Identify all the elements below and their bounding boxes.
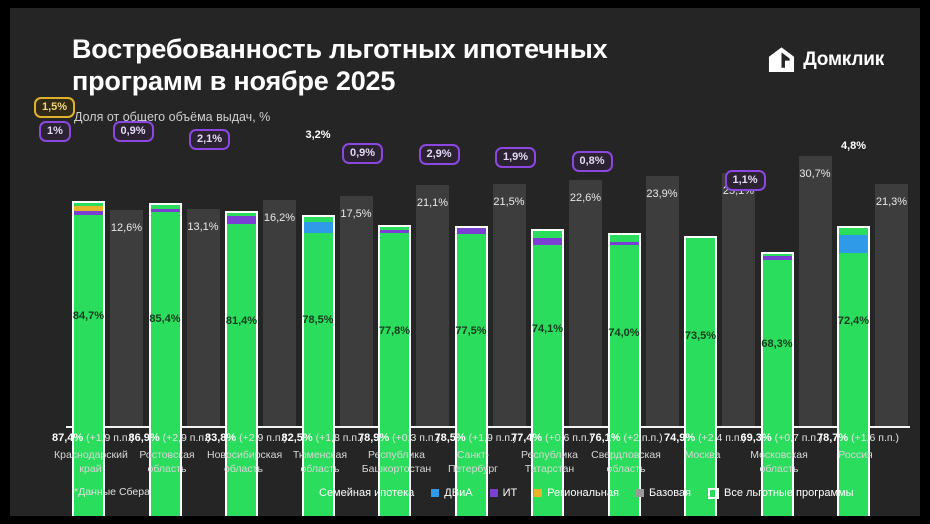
category-label: Россия bbox=[819, 449, 892, 463]
bar-segment-regional bbox=[74, 206, 103, 211]
bar-label-base: 30,7% bbox=[799, 168, 832, 180]
legend-swatch-icon bbox=[490, 489, 498, 497]
legend-label: Семейная ипотека bbox=[319, 487, 414, 499]
source-footnote: *Данные Сбера bbox=[74, 486, 150, 498]
callout-badge: 1% bbox=[39, 121, 71, 142]
bar-segment-it bbox=[533, 238, 562, 245]
legend-item[interactable]: Все льготные программы bbox=[708, 487, 853, 499]
bar-segment-base bbox=[875, 184, 908, 426]
bar-segment-family bbox=[839, 253, 868, 516]
chart-legend: Семейная ипотекаДВиАИТРегиональнаяБазова… bbox=[306, 487, 853, 499]
bar-label-family: 81,4% bbox=[225, 315, 258, 327]
category-label: Республика Башкортостан bbox=[360, 449, 433, 476]
bar-label-family: 84,7% bbox=[72, 310, 105, 322]
bar-segment-family bbox=[763, 260, 792, 516]
legend-label: Региональная bbox=[547, 487, 619, 499]
bar-label-family: 85,4% bbox=[149, 313, 182, 325]
bar-label-family: 74,1% bbox=[531, 323, 564, 335]
chart-image: Востребованность льготных ипотечных прог… bbox=[0, 0, 930, 524]
category-label: Санкт-Петербург bbox=[437, 449, 510, 476]
bar-segment-family bbox=[686, 245, 715, 516]
bar-segment-it bbox=[457, 226, 486, 234]
bar-segment-base bbox=[187, 209, 220, 426]
bar-total-label: 86,9% (+2,9 п.п.) bbox=[129, 432, 206, 444]
legend-label: Все льготные программы bbox=[724, 487, 853, 499]
category-label: Москва bbox=[666, 449, 739, 463]
legend-item[interactable]: Региональная bbox=[534, 487, 619, 499]
bar-segment-it bbox=[74, 211, 103, 215]
legend-swatch-icon bbox=[431, 489, 439, 497]
bar-label-base: 22,6% bbox=[569, 192, 602, 204]
bar-label-family: 74,0% bbox=[608, 327, 641, 339]
bar-stack bbox=[761, 252, 794, 516]
category-label: Ростовская область bbox=[131, 449, 204, 476]
callout-badge: 2,1% bbox=[189, 129, 230, 150]
bar-label-base: 12,6% bbox=[110, 222, 143, 234]
chart-canvas: Востребованность льготных ипотечных прог… bbox=[10, 8, 920, 516]
legend-item[interactable]: ДВиА bbox=[431, 487, 472, 499]
legend-swatch-icon bbox=[708, 488, 719, 499]
callout-badge: 0,9% bbox=[342, 143, 383, 164]
bar-label-base: 21,3% bbox=[875, 196, 908, 208]
category-label: Московская область bbox=[743, 449, 816, 476]
bar-total-label: 83,8% (+2,9 п.п.) bbox=[205, 432, 282, 444]
category-label: Новосибирская область bbox=[207, 449, 280, 476]
bar-segment-base bbox=[263, 200, 296, 427]
bar-segment-base bbox=[493, 184, 526, 426]
bar-segment-base bbox=[340, 196, 373, 426]
bar-segment-base bbox=[569, 180, 602, 426]
bar-stack bbox=[837, 226, 870, 516]
legend-label: Базовая bbox=[649, 487, 691, 499]
legend-swatch-icon bbox=[306, 489, 314, 497]
bar-label-base: 23,9% bbox=[646, 188, 679, 200]
bar-total-label: 78,9% (+0,3 п.п.) bbox=[358, 432, 435, 444]
bar-label-base: 13,1% bbox=[187, 221, 220, 233]
bar-label-family: 77,5% bbox=[455, 325, 488, 337]
bar-label-family: 68,3% bbox=[761, 338, 794, 350]
bar-label-family: 77,8% bbox=[378, 325, 411, 337]
bar-segment-it bbox=[763, 256, 792, 260]
bar-segment-dvia bbox=[304, 222, 333, 234]
bar-segment-it bbox=[380, 230, 409, 233]
bar-label-base: 21,5% bbox=[493, 196, 526, 208]
bar-total-label: 78,5% (+1,9 п.п.) bbox=[435, 432, 512, 444]
callout-badge: 0,9% bbox=[113, 121, 154, 142]
bar-label-family: 72,4% bbox=[837, 315, 870, 327]
bar-total-label: 77,4% (+0,6 п.п.) bbox=[511, 432, 588, 444]
callout-badge: 2,9% bbox=[419, 144, 460, 165]
legend-label: ИТ bbox=[503, 487, 518, 499]
legend-item[interactable]: Базовая bbox=[636, 487, 691, 499]
callout-badge: 1,5% bbox=[34, 97, 75, 118]
bar-segment-base bbox=[110, 210, 143, 426]
bar-segment-it bbox=[151, 209, 180, 212]
bar-label-family: 73,5% bbox=[684, 330, 717, 342]
bar-total-label: 69,3% (+0,7 п.п.) bbox=[741, 432, 818, 444]
bar-total-label: 74,9% (+2,4 п.п.) bbox=[664, 432, 741, 444]
legend-item[interactable]: ИТ bbox=[490, 487, 518, 499]
category-label: Свердловская область bbox=[590, 449, 663, 476]
bar-segment-it bbox=[227, 216, 256, 224]
category-label: Краснодарский край bbox=[54, 449, 127, 476]
bar-label-base: 16,2% bbox=[263, 212, 296, 224]
legend-label: ДВиА bbox=[444, 487, 472, 499]
category-label: Республика Татарстан bbox=[513, 449, 586, 476]
bar-chart-plot: 12,6%84,7%87,4% (+1,9 п.п.)Краснодарский… bbox=[10, 8, 920, 516]
bar-segment-it bbox=[610, 242, 639, 245]
bar-total-label: 82,5% (+1,8 п.п.) bbox=[282, 432, 359, 444]
bar-segment-dvia bbox=[839, 235, 868, 252]
bar-total-label: 76,1% (+2 п.п.) bbox=[588, 432, 665, 444]
bar-label-base: 21,1% bbox=[416, 197, 449, 209]
bar-segment-base bbox=[722, 173, 755, 426]
category-label: Тюменская область bbox=[284, 449, 357, 476]
legend-swatch-icon bbox=[534, 489, 542, 497]
bar-label-base: 17,5% bbox=[340, 208, 373, 220]
callout-badge: 0,8% bbox=[572, 151, 613, 172]
legend-swatch-icon bbox=[636, 489, 644, 497]
bar-segment-base bbox=[646, 176, 679, 426]
bar-stack bbox=[684, 236, 717, 516]
bar-total-label: 87,4% (+1,9 п.п.) bbox=[52, 432, 129, 444]
callout-badge: 1,1% bbox=[725, 170, 766, 191]
bar-label-dvia: 3,2% bbox=[302, 129, 335, 141]
bar-segment-base bbox=[799, 156, 832, 426]
bar-total-label: 78,7% (+1,6 п.п.) bbox=[817, 432, 894, 444]
legend-item[interactable]: Семейная ипотека bbox=[306, 487, 414, 499]
callout-badge: 1,9% bbox=[495, 147, 536, 168]
bar-segment-base bbox=[416, 185, 449, 426]
bar-label-dvia: 4,8% bbox=[837, 140, 870, 152]
bar-label-family: 78,5% bbox=[302, 314, 335, 326]
